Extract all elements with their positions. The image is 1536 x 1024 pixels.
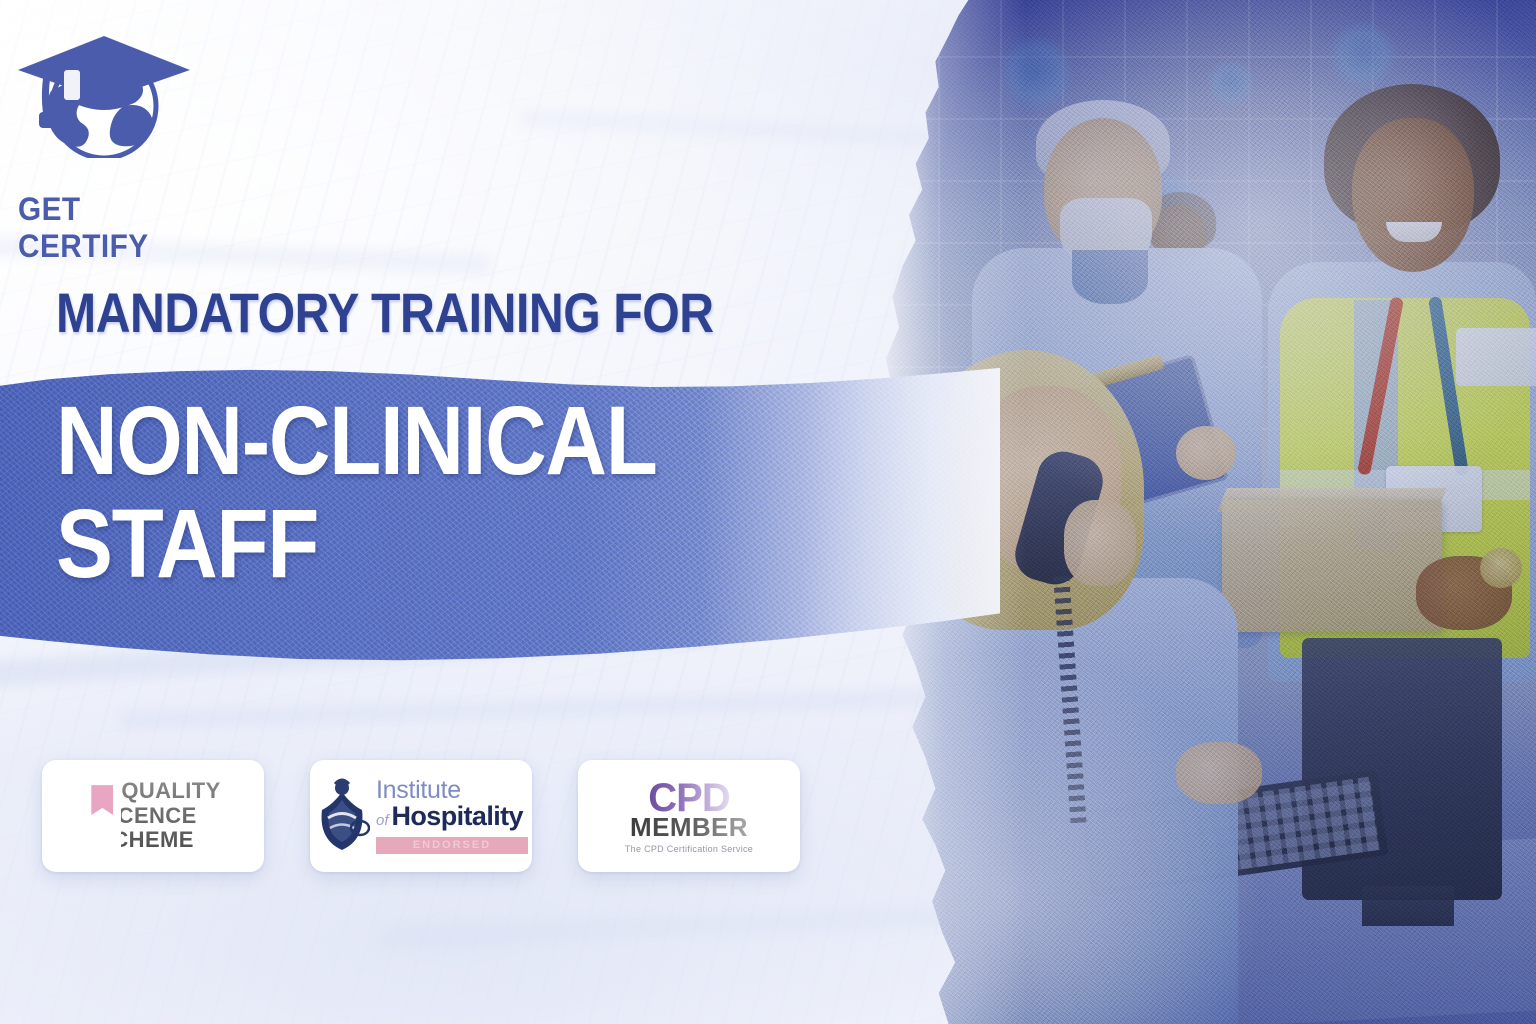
wall-tile [1328, 20, 1398, 90]
wall-tile [998, 34, 1076, 112]
wall-tile [1206, 58, 1256, 108]
ioh-line-2: Hospitality [392, 803, 523, 830]
badge-institute-of-hospitality[interactable]: Institute of Hospitality ENDORSED [310, 760, 532, 872]
qls-line-2: LICENCE [97, 804, 220, 829]
receptionist-hand [1064, 500, 1136, 586]
kicker-text: MANDATORY TRAINING FOR [56, 285, 714, 341]
endorsed-ribbon: ENDORSED [376, 837, 528, 854]
man-collar [1072, 250, 1148, 304]
brush-stroke [520, 109, 940, 147]
brand-name: GET CERTIFY [18, 191, 208, 265]
brush-stroke [380, 903, 1000, 949]
course-promo-banner: GET CERTIFY MANDATORY TRAINING FOR NON-C… [0, 0, 1536, 1024]
hivis-woman-head [1352, 118, 1474, 272]
headline-line-1: NON-CLINICAL [56, 386, 657, 495]
qls-line-3: SCHEME [97, 828, 220, 853]
brush-stroke [120, 689, 940, 730]
wristwatch [1480, 548, 1522, 588]
graduation-cap-globe-icon [12, 28, 202, 158]
brand-logo[interactable]: GET CERTIFY [12, 28, 222, 208]
cardboard-box [1222, 500, 1442, 632]
accreditation-badges: QUALITY LICENCE SCHEME Institute [42, 760, 800, 872]
qls-line-1: QUALITY [121, 779, 220, 804]
cpd-line-3: The CPD Certification Service [625, 845, 753, 854]
receptionist-hand [1176, 742, 1262, 804]
cpd-line-2: MEMBER [630, 814, 748, 840]
headline-line-2: STAFF [56, 493, 778, 596]
name-badge [1456, 328, 1536, 386]
hospitality-crest-icon [314, 778, 370, 854]
badge-cpd-member[interactable]: CPD MEMBER The CPD Certification Service [578, 760, 800, 872]
monitor-stand [1362, 886, 1454, 926]
receptionist-body [876, 578, 1238, 1024]
badge-quality-licence-scheme[interactable]: QUALITY LICENCE SCHEME [42, 760, 264, 872]
ioh-connector: of [376, 813, 389, 828]
ioh-line-1: Institute [376, 778, 528, 803]
man-hand [1176, 426, 1236, 480]
page-title: NON-CLINICAL STAFF [56, 390, 778, 596]
